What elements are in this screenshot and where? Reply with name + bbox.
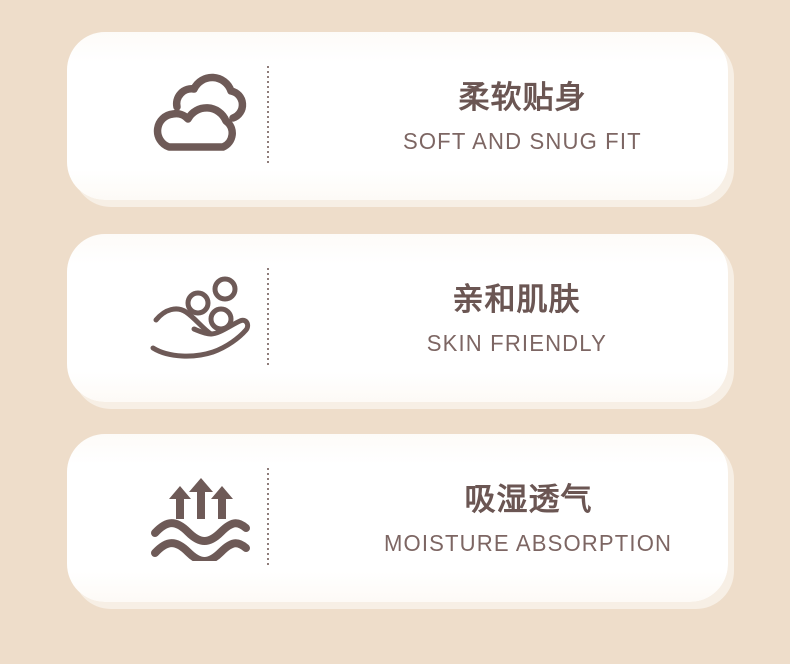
card-divider xyxy=(267,66,269,166)
feature-title-cn: 亲和肌肤 xyxy=(453,282,581,320)
feature-title-en: MOISTURE ABSORPTION xyxy=(384,529,672,558)
card-divider xyxy=(267,468,269,568)
feature-icon-slot xyxy=(67,434,335,602)
feature-icon-slot xyxy=(67,32,335,200)
feature-card-moisture-absorption[interactable]: 吸湿透气 MOISTURE ABSORPTION xyxy=(67,434,728,602)
hand-with-bubbles-icon xyxy=(147,272,255,364)
arrows-over-waves-icon xyxy=(147,475,255,561)
feature-text-block: 亲和肌肤 SKIN FRIENDLY xyxy=(335,234,728,402)
feature-text-block: 吸湿透气 MOISTURE ABSORPTION xyxy=(335,434,728,602)
cloud-icon xyxy=(147,71,255,161)
feature-text-block: 柔软贴身 SOFT AND SNUG FIT xyxy=(335,32,728,200)
feature-title-en: SKIN FRIENDLY xyxy=(426,329,606,358)
feature-title-en: SOFT AND SNUG FIT xyxy=(403,127,642,156)
feature-icon-slot xyxy=(67,234,335,402)
feature-title-cn: 吸湿透气 xyxy=(465,482,593,520)
feature-card-list: 柔软贴身 SOFT AND SNUG FIT 亲和肌肤 xyxy=(0,0,790,664)
feature-card-soft-and-snug-fit[interactable]: 柔软贴身 SOFT AND SNUG FIT xyxy=(67,32,728,200)
feature-title-cn: 柔软贴身 xyxy=(459,80,587,118)
card-divider xyxy=(267,268,269,368)
feature-card-skin-friendly[interactable]: 亲和肌肤 SKIN FRIENDLY xyxy=(67,234,728,402)
